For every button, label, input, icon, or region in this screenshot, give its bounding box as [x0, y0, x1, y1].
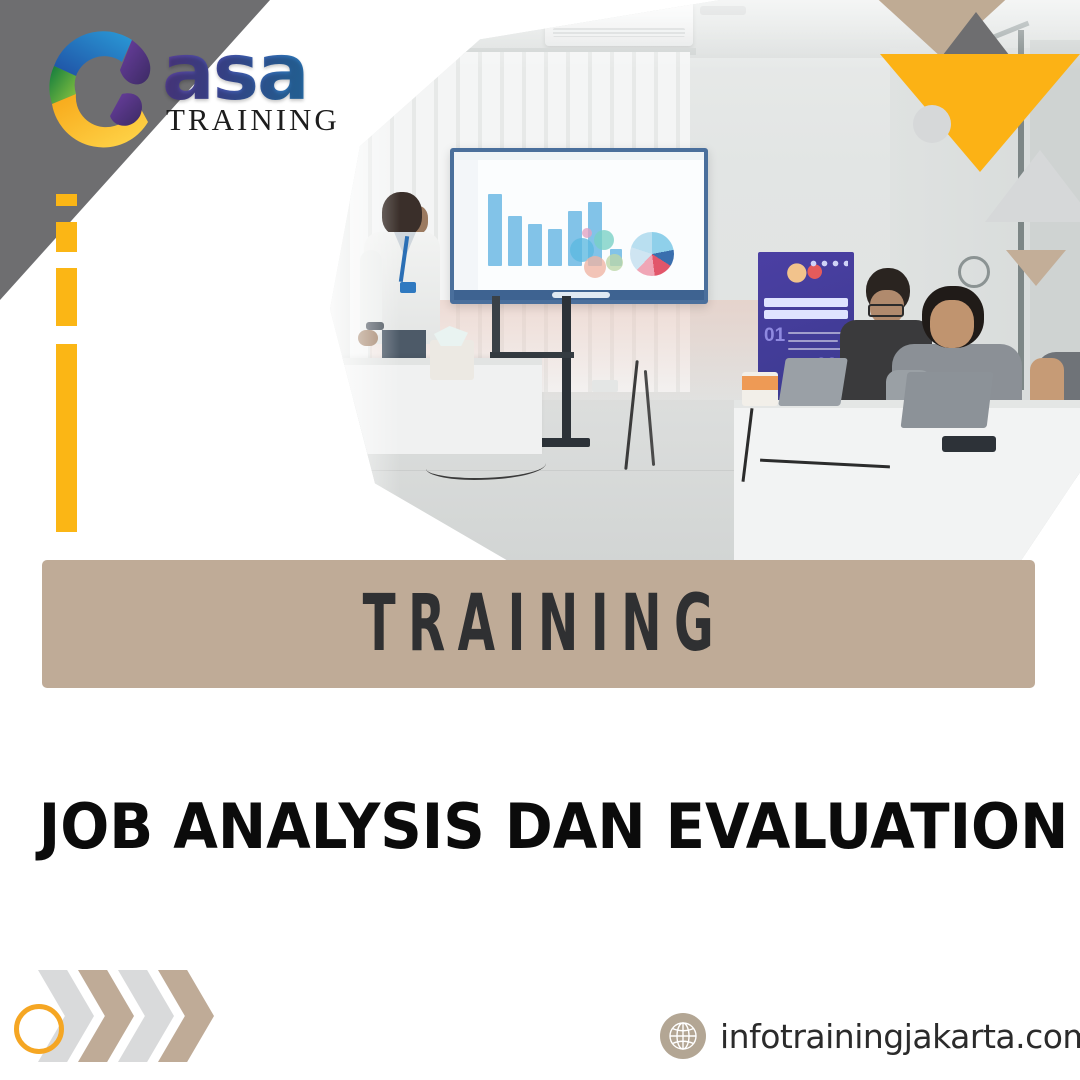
page-title: JOB ANALYSIS DAN EVALUATION [0, 790, 1080, 863]
brand-logo[interactable]: asa TRAINING [36, 18, 356, 168]
orange-ring-icon [14, 1004, 64, 1054]
light-gray-triangle-icon [985, 150, 1080, 222]
dash-decoration-4 [56, 344, 77, 532]
dash-decoration-2 [56, 222, 77, 252]
pie-chart [630, 232, 674, 276]
training-banner-label: TRAINING [351, 579, 727, 669]
website-link[interactable]: infotrainingjakarta.com [660, 1013, 1080, 1059]
page-title-text: JOB ANALYSIS DAN EVALUATION [39, 790, 1069, 863]
chevron-arrows-decoration [14, 960, 204, 1070]
dash-decoration-1 [56, 194, 77, 206]
logo-wordmark: asa [162, 42, 340, 106]
small-tan-triangle-icon [1006, 250, 1066, 286]
training-banner: TRAINING [42, 560, 1035, 688]
website-url-text: infotrainingjakarta.com [720, 1017, 1080, 1056]
poster-canvas: 01 02 [0, 0, 1080, 1080]
presentation-display [450, 148, 708, 304]
logo-subtitle: TRAINING [162, 102, 340, 138]
gray-circle-icon [913, 105, 951, 143]
laptop [901, 372, 994, 428]
dash-decoration-3 [56, 268, 77, 326]
globe-icon [660, 1013, 706, 1059]
circular-swirl-logo-icon [36, 18, 166, 148]
laptop [778, 358, 848, 406]
hanging-ring [958, 256, 990, 288]
